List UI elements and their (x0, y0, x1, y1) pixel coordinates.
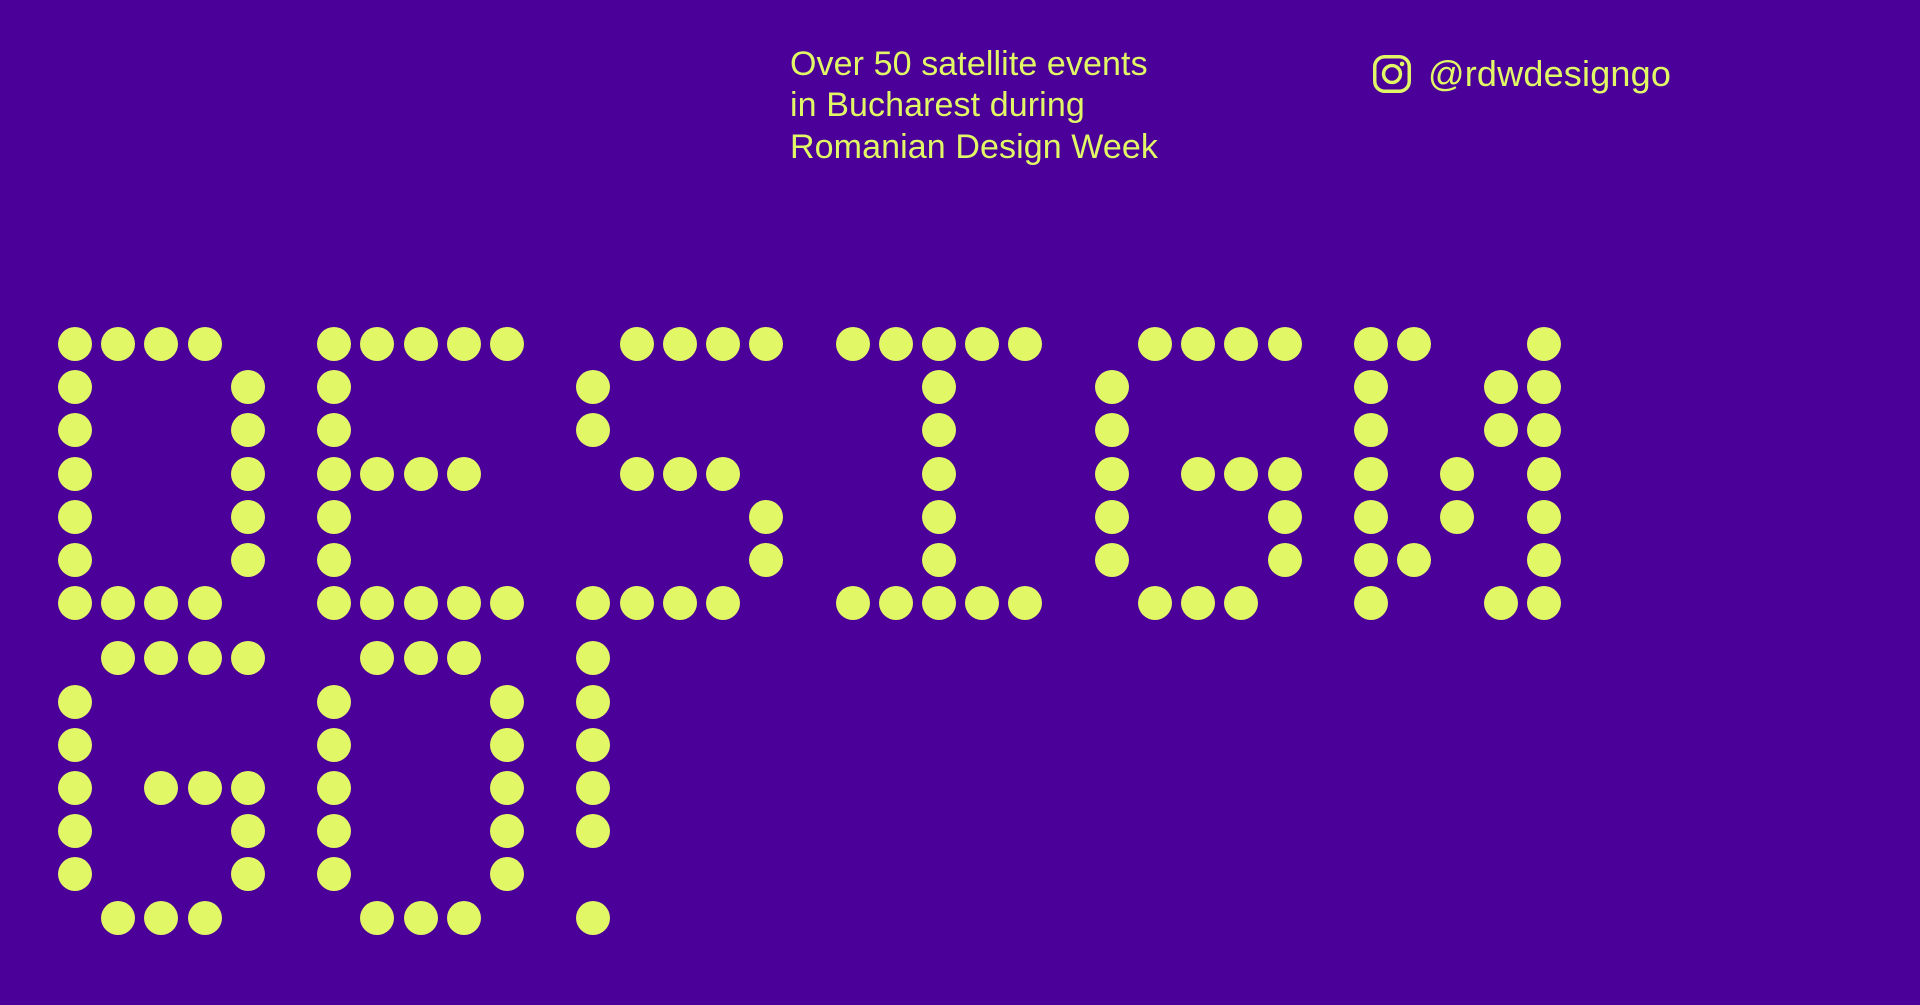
headline-dot (490, 771, 524, 805)
headline-dot (404, 457, 438, 491)
headline-dot (1354, 327, 1388, 361)
headline-dot (58, 457, 92, 491)
headline-dot (1527, 586, 1561, 620)
headline-dot (1181, 327, 1215, 361)
headline-dot (404, 327, 438, 361)
headline-dot (360, 457, 394, 491)
headline-dot (231, 457, 265, 491)
headline-dot (58, 685, 92, 719)
headline-dot (1484, 586, 1518, 620)
headline-dot (1484, 370, 1518, 404)
headline-dot (663, 457, 697, 491)
headline-dot (1354, 500, 1388, 534)
headline-dot (317, 327, 351, 361)
headline-dot (58, 370, 92, 404)
headline-dot (490, 586, 524, 620)
headline-dot (836, 586, 870, 620)
headline-dot (317, 413, 351, 447)
headline-dot (58, 413, 92, 447)
headline-dot (404, 586, 438, 620)
headline-dot (706, 327, 740, 361)
headline-dot (231, 771, 265, 805)
headline-dot (1527, 543, 1561, 577)
headline-dot (231, 413, 265, 447)
headline-dot (1095, 457, 1129, 491)
headline-dot (1527, 500, 1561, 534)
headline-dot (447, 586, 481, 620)
footer-logo-strip: ROMANIAN DESIGN WEEK (0, 820, 1920, 1005)
headline-dot (1138, 586, 1172, 620)
headline-dot (1397, 543, 1431, 577)
headline-dot (1354, 543, 1388, 577)
headline-dot (922, 543, 956, 577)
headline-dot (1224, 327, 1258, 361)
headline-dot (58, 327, 92, 361)
headline-dot (1354, 413, 1388, 447)
headline-dot (576, 728, 610, 762)
headline-dot (317, 457, 351, 491)
headline-dot (231, 370, 265, 404)
headline-dot (188, 641, 222, 675)
headline-dot (58, 771, 92, 805)
headline-dot (1268, 457, 1302, 491)
headline-dot (1224, 586, 1258, 620)
headline-dot (447, 457, 481, 491)
headline-dot (576, 586, 610, 620)
headline-dot (922, 327, 956, 361)
headline-dot (101, 586, 135, 620)
headline-dot (749, 327, 783, 361)
headline-dot (663, 586, 697, 620)
headline-dot (706, 586, 740, 620)
headline-dot (1527, 457, 1561, 491)
headline-dot (490, 685, 524, 719)
headline-dot (1181, 457, 1215, 491)
headline-dot (360, 641, 394, 675)
headline-dot (576, 413, 610, 447)
headline-dot (1527, 370, 1561, 404)
headline-dot (317, 500, 351, 534)
headline-dot (706, 457, 740, 491)
headline-dot (1095, 370, 1129, 404)
headline-dot (404, 641, 438, 675)
headline-dot (144, 641, 178, 675)
headline-dot (1268, 327, 1302, 361)
headline-dot (231, 500, 265, 534)
headline-dot (1268, 543, 1302, 577)
headline-dot (58, 586, 92, 620)
headline-dot (576, 641, 610, 675)
headline-dot (1440, 457, 1474, 491)
headline-dot (231, 641, 265, 675)
headline-dot (836, 327, 870, 361)
headline-dot (576, 370, 610, 404)
headline-dot (576, 685, 610, 719)
headline-dot (1484, 413, 1518, 447)
headline-dot (144, 771, 178, 805)
headline-dot (1008, 586, 1042, 620)
headline-dot (490, 728, 524, 762)
headline-dot (188, 771, 222, 805)
header-tagline: Over 50 satellite events in Bucharest du… (790, 44, 1158, 168)
headline-dot (1095, 543, 1129, 577)
headline-dot (317, 370, 351, 404)
headline-dot (360, 586, 394, 620)
headline-dot (620, 327, 654, 361)
headline-dot (922, 586, 956, 620)
headline-dot (620, 457, 654, 491)
headline-dot (317, 685, 351, 719)
headline-dot (1181, 586, 1215, 620)
headline-dot (317, 543, 351, 577)
headline-dot (188, 327, 222, 361)
headline-dot (965, 327, 999, 361)
headline-dot (1440, 500, 1474, 534)
headline-dot (58, 500, 92, 534)
headline-dot (360, 327, 394, 361)
headline-dot (101, 641, 135, 675)
headline-dot (965, 586, 999, 620)
headline-dot (144, 327, 178, 361)
headline-dot (317, 728, 351, 762)
headline-dot (1354, 457, 1388, 491)
headline-dot (1224, 457, 1258, 491)
headline-dot (663, 327, 697, 361)
headline-dot (1354, 586, 1388, 620)
headline-dot (317, 771, 351, 805)
headline-dot (317, 586, 351, 620)
headline-dot (1354, 370, 1388, 404)
headline-dot (922, 457, 956, 491)
headline-dot (1138, 327, 1172, 361)
headline-dot (231, 543, 265, 577)
instagram-handle-link[interactable]: @rdwdesigngo (1370, 52, 1671, 96)
headline-dot (879, 586, 913, 620)
headline-dot (576, 771, 610, 805)
headline-dot (1268, 500, 1302, 534)
headline-dot (188, 586, 222, 620)
headline-dot (1527, 327, 1561, 361)
headline-dot (447, 641, 481, 675)
headline-dot (1095, 500, 1129, 534)
headline-dot (1095, 413, 1129, 447)
headline-dot (1527, 413, 1561, 447)
headline-dot (922, 370, 956, 404)
headline-dot (879, 327, 913, 361)
headline-dot (144, 586, 178, 620)
headline-dot (749, 543, 783, 577)
headline-dot (620, 586, 654, 620)
instagram-icon (1370, 52, 1414, 96)
headline-dot (922, 500, 956, 534)
headline-dot (1008, 327, 1042, 361)
headline-dot (490, 327, 524, 361)
headline-dot (1397, 327, 1431, 361)
headline-dot (58, 728, 92, 762)
headline-dot (447, 327, 481, 361)
headline-dot (58, 543, 92, 577)
headline-dot (101, 327, 135, 361)
instagram-handle-text: @rdwdesigngo (1428, 53, 1671, 95)
headline-dot (922, 413, 956, 447)
headline-dot (749, 500, 783, 534)
